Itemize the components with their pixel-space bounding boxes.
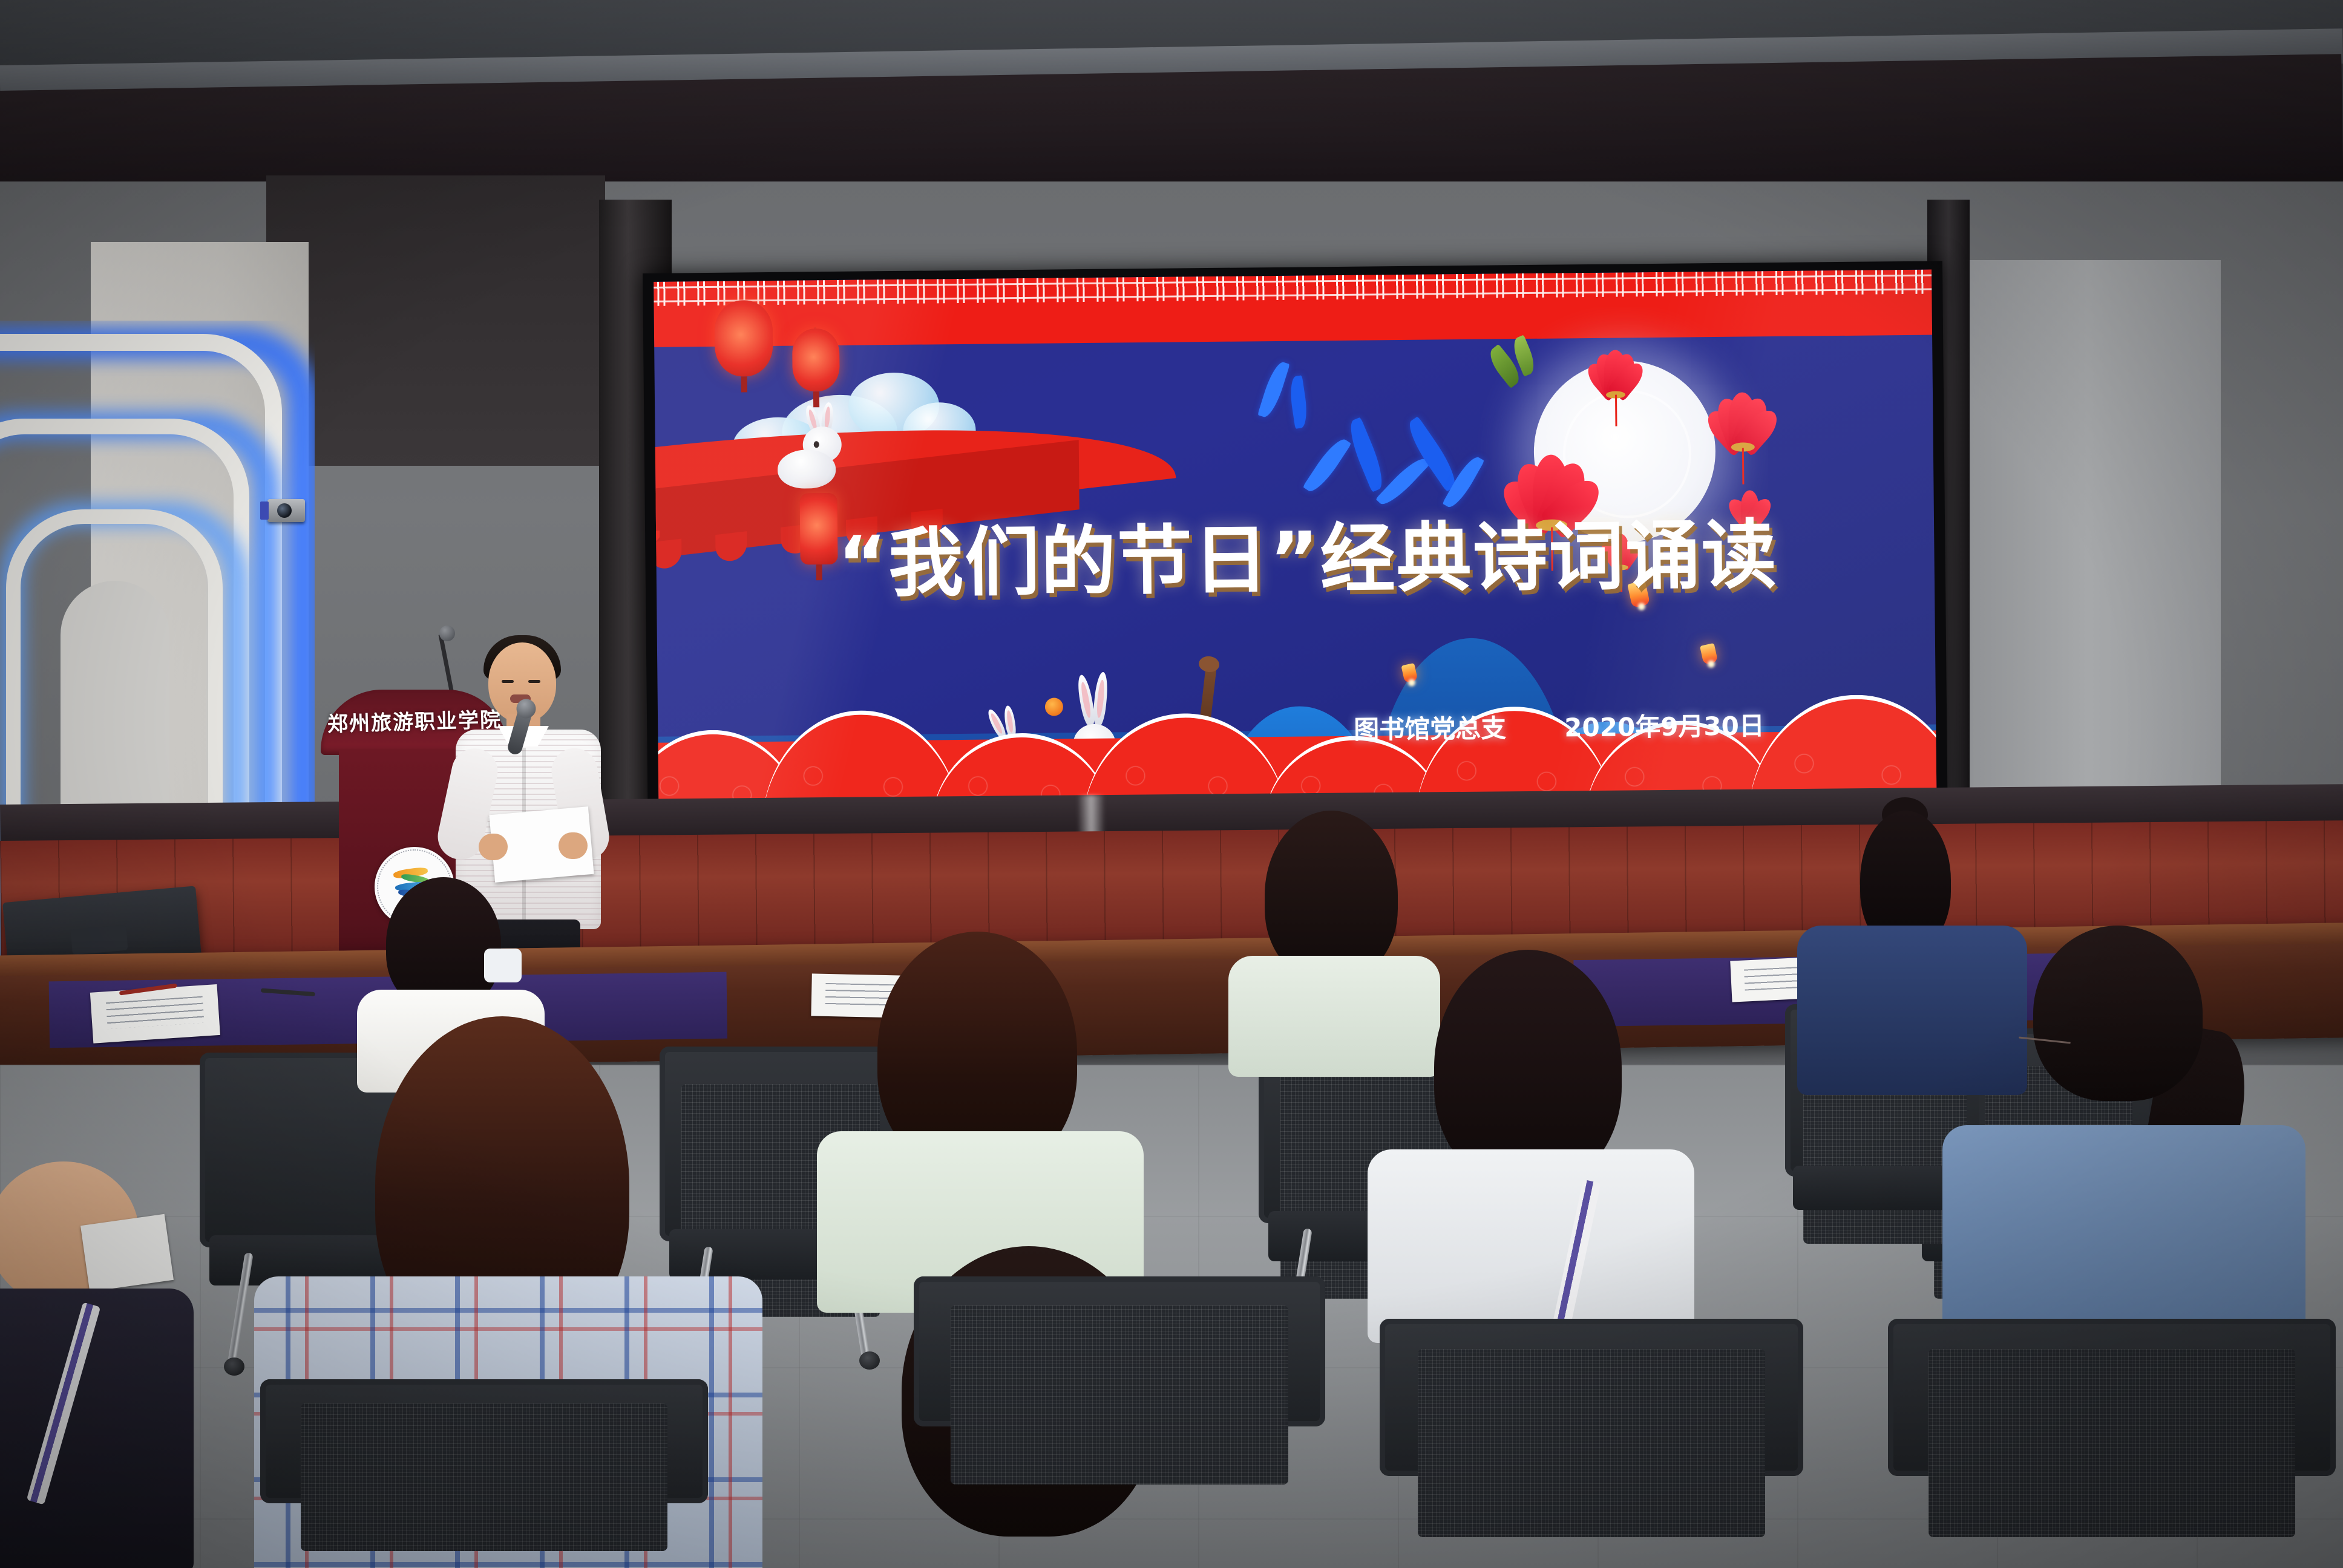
lantern-icon xyxy=(714,300,773,377)
list-item xyxy=(0,1161,218,1568)
screen-date: 2020年9月30日 xyxy=(1564,705,1765,744)
led-screen: “我们的节日”经典诗词诵读 图书馆党总支 2020年9月30日 xyxy=(654,270,1937,828)
screen-meta: 图书馆党总支 2020年9月30日 xyxy=(1354,705,1765,746)
chinese-key-pattern-icon xyxy=(654,270,1932,306)
speaker-left-hand xyxy=(479,834,508,860)
face-mask xyxy=(484,949,522,982)
paper-sheet xyxy=(90,984,220,1044)
person-hair xyxy=(2033,926,2203,1101)
camera-icon xyxy=(267,499,305,522)
list-item xyxy=(1386,950,1670,1325)
paper-sheet xyxy=(80,1214,174,1292)
chair xyxy=(260,1379,708,1568)
person-top xyxy=(1368,1149,1694,1343)
wall-dark-recess xyxy=(266,175,605,466)
screen-top-border xyxy=(654,270,1932,347)
led-screen-frame: “我们的节日”经典诗词诵读 图书馆党总支 2020年9月30日 xyxy=(643,261,1948,836)
list-item xyxy=(1967,926,2281,1349)
chair xyxy=(914,1276,1325,1518)
chair xyxy=(1888,1319,2336,1568)
person-top xyxy=(0,1289,194,1568)
lotus-icon xyxy=(1579,350,1652,395)
auditorium-photo: “我们的节日”经典诗词诵读 图书馆党总支 2020年9月30日 郑州旅游职业学院 xyxy=(0,0,2343,1568)
lotus-icon xyxy=(1697,392,1788,448)
title-lantern-icon xyxy=(800,493,838,565)
person-hair xyxy=(1265,811,1398,980)
screen-title: “我们的节日”经典诗词诵读 xyxy=(837,494,1778,612)
list-item xyxy=(835,932,1119,1295)
lantern-icon xyxy=(792,328,840,392)
chair xyxy=(1380,1319,1803,1568)
speaker-right-hand xyxy=(559,832,588,859)
screen-organizer: 图书馆党总支 xyxy=(1354,708,1507,746)
